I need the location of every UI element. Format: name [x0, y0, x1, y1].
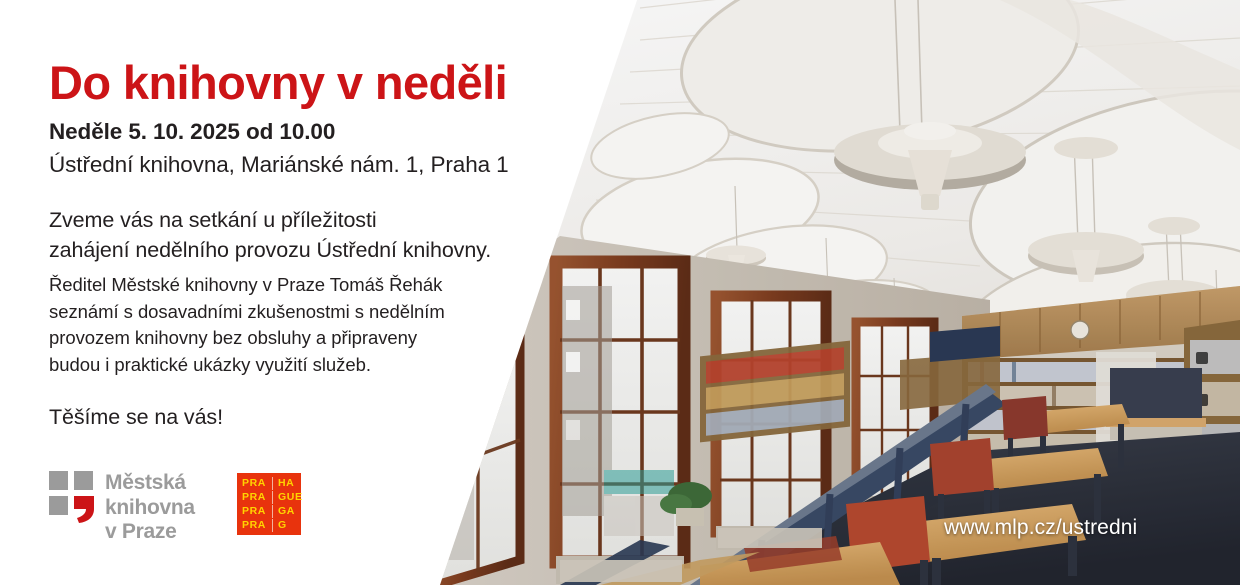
prague-logo-row-2-left: PRA [242, 491, 272, 504]
website-url[interactable]: www.mlp.cz/ustredni [944, 516, 1137, 540]
event-datetime: Neděle 5. 10. 2025 od 10.00 [49, 119, 335, 145]
body-line-2: seznámí s dosavadními zkušenostmi s nedě… [49, 299, 445, 326]
library-logo-line-3: v Praze [105, 520, 195, 545]
text-panel: Do knihovny v neděli Neděle 5. 10. 2025 … [0, 0, 640, 585]
prague-logo-row-4-right: G [272, 519, 303, 532]
library-logo-line-2: knihovna [105, 496, 195, 521]
lead-line-1: Zveme vás na setkání u příležitosti [49, 205, 491, 235]
library-logo-text: Městská knihovna v Praze [105, 471, 195, 545]
logo-square-top-left [49, 471, 68, 490]
prague-logo-row-3-left: PRA [242, 505, 272, 518]
library-logo-line-1: Městská [105, 471, 195, 496]
prague-logo[interactable]: PRA HA PRA GUE PRA GA PRA G [237, 473, 301, 535]
logo-square-bottom-left [49, 496, 68, 515]
body-line-4: budou i praktické ukázky využití služeb. [49, 352, 445, 379]
lead-line-2: zahájení nedělního provozu Ústřední knih… [49, 235, 491, 265]
prague-logo-row-1-left: PRA [242, 477, 272, 490]
body-paragraph: Ředitel Městské knihovny v Praze Tomáš Ř… [49, 272, 445, 378]
prague-logo-row-3-right: GA [272, 505, 303, 518]
body-line-3: provozem knihovny bez obsluhy a připrave… [49, 325, 445, 352]
page-title: Do knihovny v neděli [49, 55, 507, 110]
library-logo[interactable]: Městská knihovna v Praze [49, 471, 195, 545]
closing-line: Těšíme se na vás! [49, 405, 223, 430]
body-line-1: Ředitel Městské knihovny v Praze Tomáš Ř… [49, 272, 445, 299]
prague-logo-row-1-right: HA [272, 477, 303, 490]
prague-logo-row-4-left: PRA [242, 519, 272, 532]
library-logo-mark [49, 471, 94, 523]
event-location: Ústřední knihovna, Mariánské nám. 1, Pra… [49, 152, 509, 178]
poster: www.mlp.cz/ustredni Do knihovny v neděli… [0, 0, 1240, 585]
lead-paragraph: Zveme vás na setkání u příležitosti zahá… [49, 205, 491, 265]
red-comma-icon [74, 496, 94, 523]
logo-square-top-right [74, 471, 93, 490]
prague-logo-row-2-right: GUE [272, 491, 303, 504]
